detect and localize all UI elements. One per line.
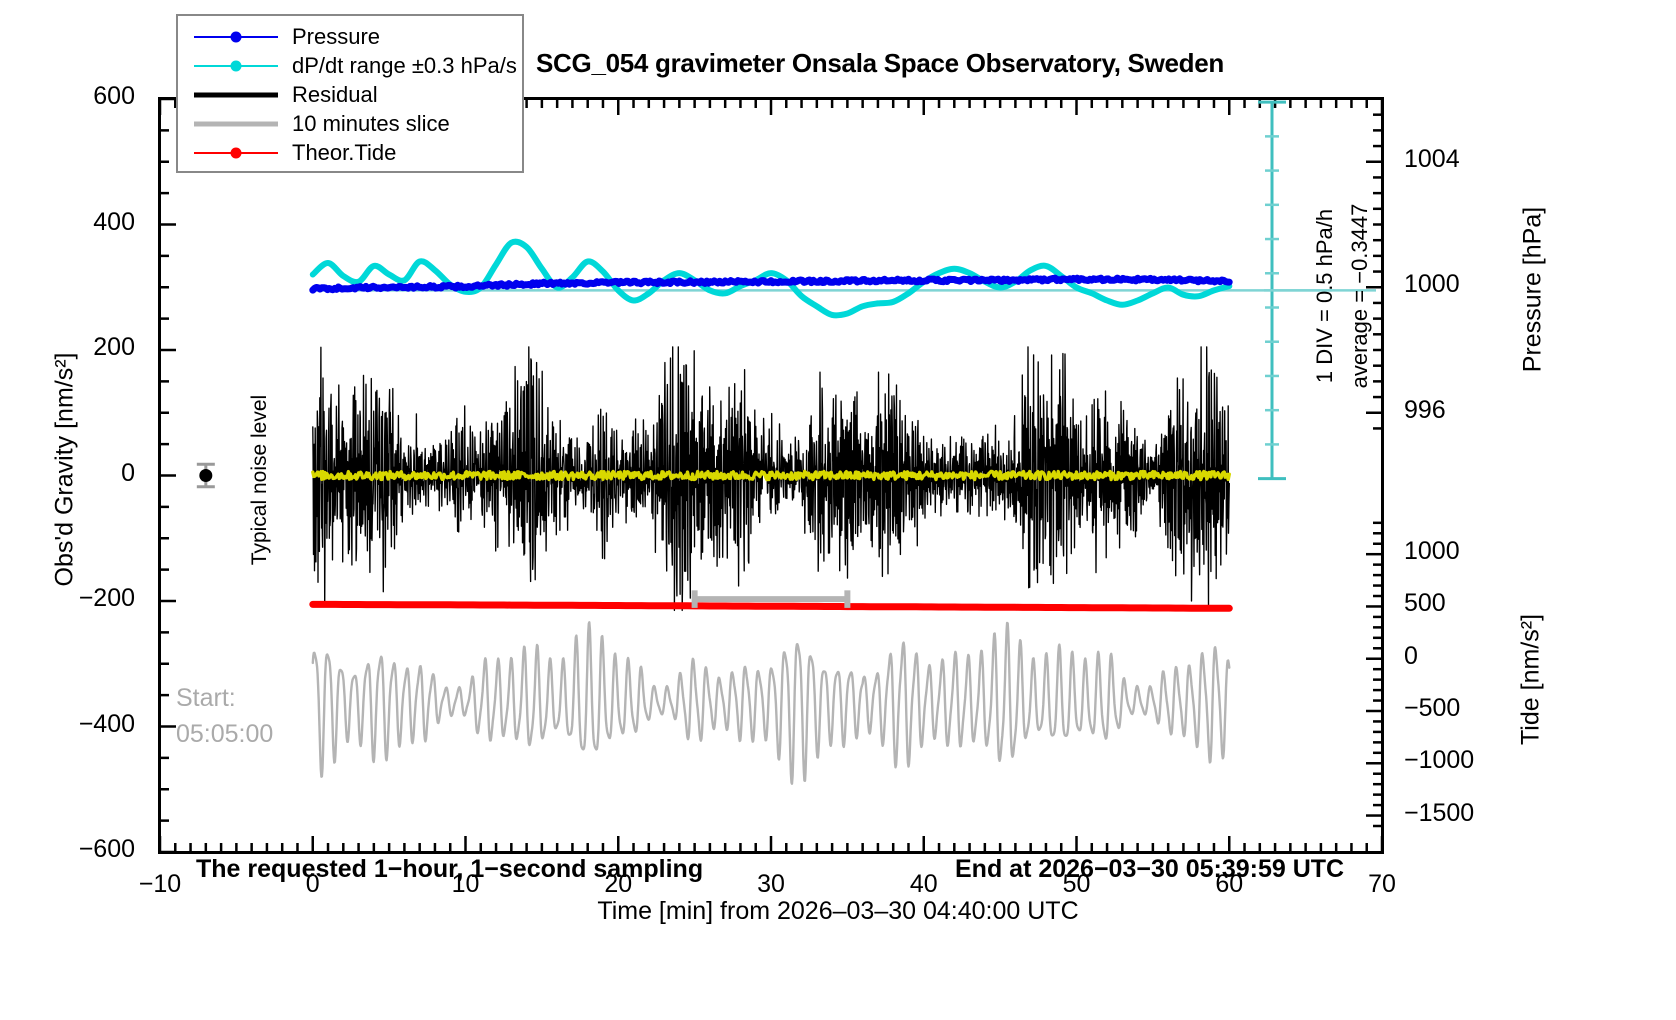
left-ticks-3: 0 xyxy=(20,459,135,488)
start-time-annotation: Start: 05:05:00 xyxy=(176,680,273,753)
end-time-note: End at 2026−03−30 05:39:59 UTC xyxy=(955,855,1344,884)
legend-swatch-icon xyxy=(194,143,278,163)
right-ticks-t-3: −500 xyxy=(1404,694,1460,723)
legend-item-label: 10 minutes slice xyxy=(292,111,450,137)
legend-item-4[interactable]: Theor.Tide xyxy=(178,138,522,167)
bottom-ticks-0: −10 xyxy=(120,870,200,899)
plot-frame xyxy=(158,97,1384,854)
legend-swatch-icon xyxy=(194,27,278,47)
bottom-ticks-5: 40 xyxy=(884,870,964,899)
legend-marker-dot xyxy=(231,147,242,158)
legend-item-1[interactable]: dP/dt range ±0.3 hPa/s xyxy=(178,51,522,80)
right-ticks-t-2: 0 xyxy=(1404,642,1418,671)
legend-swatch-icon xyxy=(194,114,278,134)
legend-line xyxy=(194,121,278,126)
legend-item-label: Pressure xyxy=(292,24,380,50)
left-ticks-4: −200 xyxy=(20,584,135,613)
typical-noise-level-label: Typical noise level xyxy=(248,360,272,600)
legend-item-3[interactable]: 10 minutes slice xyxy=(178,109,522,138)
left-ticks-5: −400 xyxy=(20,710,135,739)
legend[interactable]: PressuredP/dt range ±0.3 hPa/sResidual10… xyxy=(176,14,524,173)
right-ticks-t-0: 1000 xyxy=(1404,537,1460,566)
left-ticks-0: 600 xyxy=(20,82,135,111)
dpdt-average-label: average = −0.3447 xyxy=(1347,171,1373,421)
start-label-text: Start: xyxy=(176,680,273,716)
left-ticks-6: −600 xyxy=(20,835,135,864)
left-ticks-2: 200 xyxy=(20,333,135,362)
legend-swatch-icon xyxy=(194,56,278,76)
legend-item-2[interactable]: Residual xyxy=(178,80,522,109)
legend-swatch-icon xyxy=(194,85,278,105)
left-ticks-1: 400 xyxy=(20,208,135,237)
legend-item-label: Theor.Tide xyxy=(292,140,396,166)
legend-item-label: dP/dt range ±0.3 hPa/s xyxy=(292,53,517,79)
right-ticks-p-1: 1000 xyxy=(1404,270,1460,299)
legend-marker-dot xyxy=(231,60,242,71)
div-scale-label: 1 DIV = 0.5 hPa/h xyxy=(1312,171,1338,421)
legend-item-label: Residual xyxy=(292,82,378,108)
y-axis-label-tide: Tide [nm/s²] xyxy=(1517,555,1546,805)
right-ticks-t-1: 500 xyxy=(1404,589,1446,618)
y-axis-label-pressure: Pressure [hPa] xyxy=(1519,165,1548,415)
bottom-ticks-8: 70 xyxy=(1342,870,1422,899)
start-time-value: 05:05:00 xyxy=(176,716,273,752)
right-ticks-t-5: −1500 xyxy=(1404,799,1474,828)
sampling-note: The requested 1−hour, 1−second sampling xyxy=(196,855,703,884)
right-ticks-t-4: −1000 xyxy=(1404,746,1474,775)
bottom-ticks-4: 30 xyxy=(731,870,811,899)
x-axis-label: Time [min] from 2026–03–30 04:40:00 UTC xyxy=(338,897,1338,926)
legend-line xyxy=(194,92,278,97)
page-title: SCG_054 gravimeter Onsala Space Observat… xyxy=(536,48,1224,79)
legend-item-0[interactable]: Pressure xyxy=(178,22,522,51)
right-ticks-p-0: 1004 xyxy=(1404,145,1460,174)
gravimeter-chart-page: SCG_054 gravimeter Onsala Space Observat… xyxy=(0,0,1676,1020)
legend-marker-dot xyxy=(231,31,242,42)
right-ticks-p-2: 996 xyxy=(1404,396,1446,425)
